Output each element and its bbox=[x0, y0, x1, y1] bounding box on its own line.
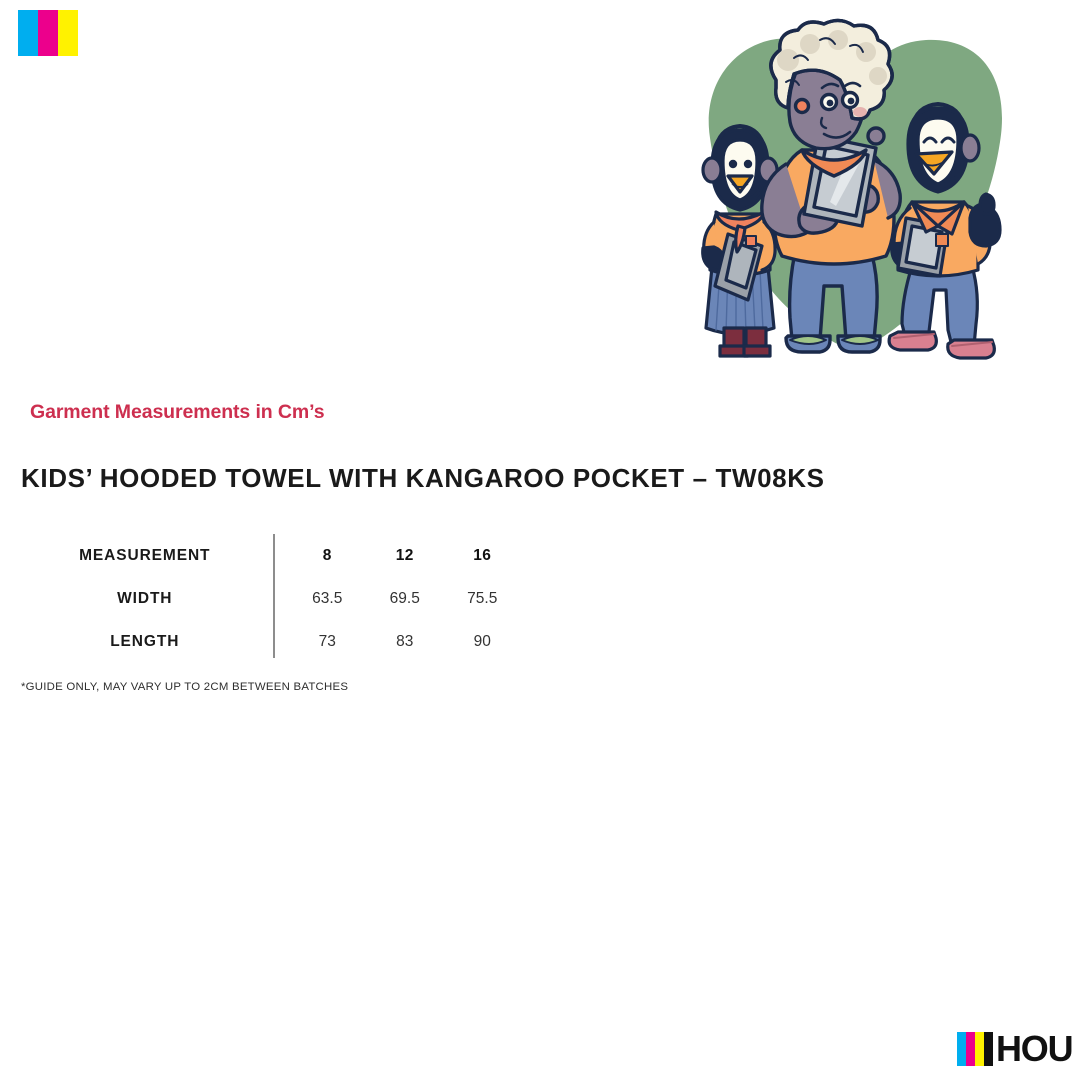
width-size-12: 69.5 bbox=[366, 577, 443, 620]
row-label-length: LENGTH bbox=[21, 620, 289, 663]
logo-wordmark: HOU bbox=[996, 1032, 1072, 1066]
table-header-measurement: MEASUREMENT bbox=[21, 534, 289, 577]
length-size-8: 73 bbox=[289, 620, 366, 663]
table-header-size-12: 12 bbox=[366, 534, 443, 577]
table-header-size-16: 16 bbox=[443, 534, 521, 577]
table-header-row: MEASUREMENT 8 12 16 bbox=[21, 534, 521, 577]
hou-brand-logo: HOU bbox=[957, 1032, 1072, 1066]
table-row: WIDTH 63.5 69.5 75.5 bbox=[21, 577, 521, 620]
length-size-16: 90 bbox=[443, 620, 521, 663]
garment-measurement-table: MEASUREMENT 8 12 16 WIDTH 63.5 69.5 75.5… bbox=[21, 534, 521, 663]
page-title: KIDS’ HOODED TOWEL WITH KANGAROO POCKET … bbox=[21, 463, 825, 494]
table-row: LENGTH 73 83 90 bbox=[21, 620, 521, 663]
width-size-8: 63.5 bbox=[289, 577, 366, 620]
logo-color-bars bbox=[957, 1032, 993, 1066]
cmyk-bar-yellow bbox=[58, 10, 78, 56]
length-size-12: 83 bbox=[366, 620, 443, 663]
cmyk-bar-magenta bbox=[38, 10, 58, 56]
customer-service-characters-illustration bbox=[690, 18, 1020, 363]
logo-bar-cyan bbox=[957, 1032, 966, 1066]
measurements-unit-label: Garment Measurements in Cm’s bbox=[30, 401, 325, 424]
table-header-size-8: 8 bbox=[289, 534, 366, 577]
row-label-width: WIDTH bbox=[21, 577, 289, 620]
measurement-disclaimer: *GUIDE ONLY, MAY VARY UP TO 2CM BETWEEN … bbox=[21, 681, 348, 693]
cmyk-color-bars bbox=[18, 10, 78, 56]
logo-bar-yellow bbox=[975, 1032, 984, 1066]
logo-bar-black bbox=[984, 1032, 993, 1066]
width-size-16: 75.5 bbox=[443, 577, 521, 620]
logo-bar-magenta bbox=[966, 1032, 975, 1066]
cmyk-bar-cyan bbox=[18, 10, 38, 56]
